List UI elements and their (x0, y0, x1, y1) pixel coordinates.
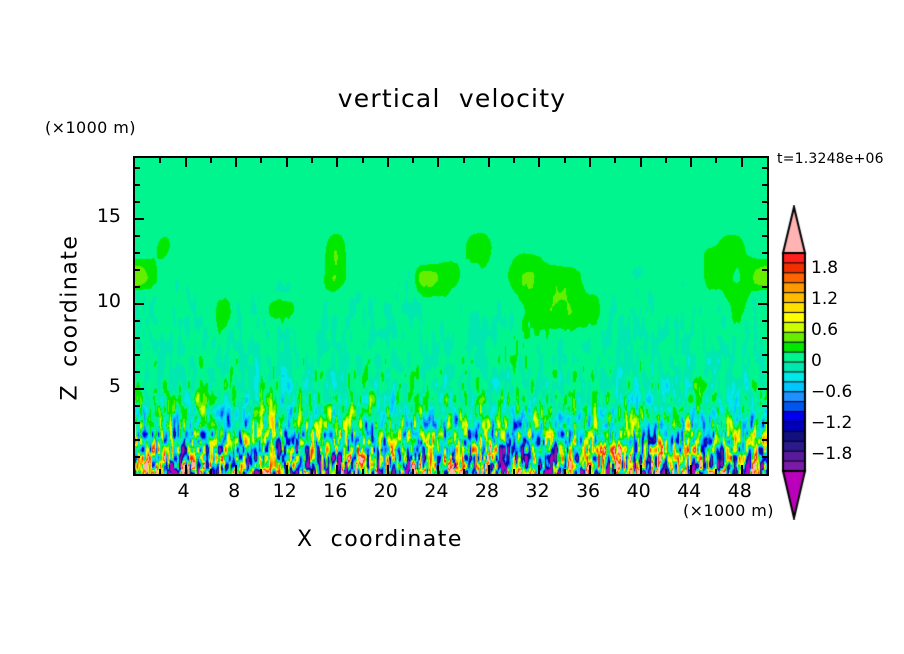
x-axis-unit-label: (×1000 m) (683, 501, 774, 520)
y-tick-label: 15 (71, 205, 121, 227)
colorbar-gradient (781, 205, 807, 520)
colorbar: 1.81.20.60−0.6−1.2−1.8 (781, 205, 807, 520)
timestamp-annotation: t=1.3248e+06 (777, 151, 884, 167)
colorbar-tick-label: 0 (811, 351, 822, 371)
x-tick-label: 48 (710, 480, 770, 502)
page-title: vertical velocity (0, 84, 904, 113)
x-axis-title: X coordinate (0, 527, 760, 552)
vertical-velocity-field (135, 158, 767, 474)
colorbar-tick-label: −1.8 (811, 444, 852, 464)
colorbar-tick-label: −1.2 (811, 413, 852, 433)
contour-plot-area (133, 156, 769, 476)
colorbar-tick-label: −0.6 (811, 382, 852, 402)
y-tick-label: 10 (71, 290, 121, 312)
y-axis-unit-label: (×1000 m) (45, 118, 136, 137)
y-tick-label: 5 (71, 375, 121, 397)
colorbar-tick-label: 1.8 (811, 258, 838, 278)
colorbar-tick-label: 1.2 (811, 289, 838, 309)
colorbar-tick-label: 0.6 (811, 320, 838, 340)
